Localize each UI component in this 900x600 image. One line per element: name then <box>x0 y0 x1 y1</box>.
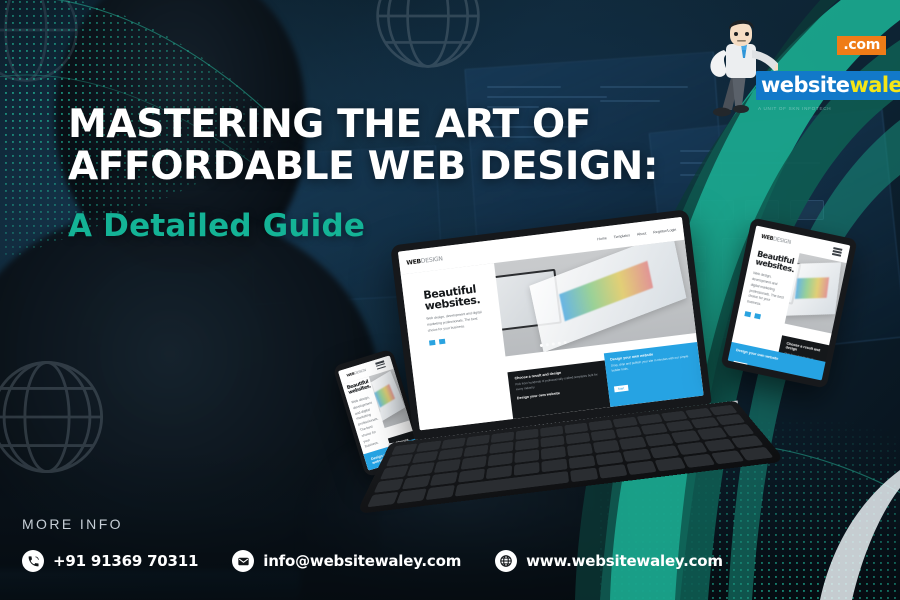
contact-email[interactable]: info@websitewaley.com <box>232 550 461 572</box>
headline-line-1: MASTERING THE ART OF <box>68 104 688 146</box>
bg-code-line <box>600 86 688 88</box>
subheadline: A Detailed Guide <box>68 208 365 244</box>
laptop-screen: WEBDESIGN Home Templates About Register/… <box>398 217 704 431</box>
mock-start-button[interactable]: Start <box>733 360 748 369</box>
bg-code-line <box>487 86 561 88</box>
contact-list: +91 91369 70311 info@websitewaley.com <box>22 550 723 572</box>
brand-logo[interactable]: website waley TM .com A UNIT OF SKN INFO… <box>694 14 884 118</box>
globe-wireframe-icon <box>368 0 488 76</box>
mock-start-button[interactable]: Start <box>614 385 629 393</box>
bg-code-line <box>680 150 780 152</box>
mock-social-icons <box>429 333 486 345</box>
bg-code-line <box>600 100 660 102</box>
laptop-mockup: WEBDESIGN Home Templates About Register/… <box>390 206 740 459</box>
hero-fan-graphic <box>529 240 686 352</box>
logo-tagline: A UNIT OF SKN INFOTECH <box>758 106 831 111</box>
contact-phone-value: +91 91369 70311 <box>53 552 198 570</box>
menu-icon[interactable] <box>375 360 386 369</box>
mock-hero-copy: Beautiful websites. Web design, developm… <box>401 263 514 430</box>
mock-social-icons <box>744 311 780 323</box>
logo-band: website waley <box>756 71 900 100</box>
bg-code-line <box>487 96 607 98</box>
nav-item-home[interactable]: Home <box>597 236 607 241</box>
logo-domain-suffix: .com <box>837 36 886 55</box>
logo-wordmark: website waley TM <box>756 71 900 100</box>
tablet-mockup: WEBDESIGN Beautiful websites. Web design… <box>720 217 857 388</box>
mock-blue-card: Design your own website Drag, drop and p… <box>603 342 703 407</box>
device-mockup-group: WEBDESIGN Beautiful websites. Web design… <box>330 215 900 535</box>
email-icon <box>232 550 254 572</box>
mock-hero-paragraph: Web design, development and digital mark… <box>746 271 788 312</box>
menu-icon[interactable] <box>832 247 842 256</box>
phone-icon <box>22 550 44 572</box>
nav-item-about[interactable]: About <box>637 231 647 236</box>
mock-dark-card: Choose a result and design Pick from hun… <box>508 361 610 419</box>
nav-item-register-login[interactable]: Register/Login <box>653 227 677 234</box>
mock-hero-title: Beautiful websites. <box>346 380 369 396</box>
mock-hero-paragraph: Web design, development and digital mark… <box>426 310 485 334</box>
headline-block: MASTERING THE ART OF AFFORDABLE WEB DESI… <box>68 104 688 187</box>
mock-hero-title: Beautiful websites. <box>755 250 793 274</box>
logo-word-primary: website <box>761 73 849 97</box>
tablet-screen: WEBDESIGN Beautiful websites. Web design… <box>728 226 851 381</box>
contact-email-value: info@websitewaley.com <box>263 552 461 570</box>
more-info-label: MORE INFO <box>22 516 123 532</box>
nav-item-templates[interactable]: Templates <box>614 233 631 239</box>
contact-phone[interactable]: +91 91369 70311 <box>22 550 198 572</box>
bg-code-line <box>680 162 820 164</box>
bg-code-line <box>680 174 756 176</box>
globe-wireframe-icon <box>0 352 112 482</box>
contact-website-value: www.websitewaley.com <box>526 552 723 570</box>
globe-wireframe-icon <box>0 0 86 90</box>
headline-line-2: AFFORDABLE WEB DESIGN: <box>68 146 688 188</box>
laptop-lid: WEBDESIGN Home Templates About Register/… <box>390 209 712 440</box>
promo-banner: MASTERING THE ART OF AFFORDABLE WEB DESI… <box>0 0 900 600</box>
footer-contact-bar: MORE INFO +91 91369 70311 <box>0 504 900 600</box>
globe-icon <box>495 550 517 572</box>
mock-hero-title: Beautiful websites. <box>423 283 483 313</box>
logo-word-secondary: waley <box>849 73 900 97</box>
contact-website[interactable]: www.websitewaley.com <box>495 550 723 572</box>
mascot-icon <box>702 14 778 118</box>
